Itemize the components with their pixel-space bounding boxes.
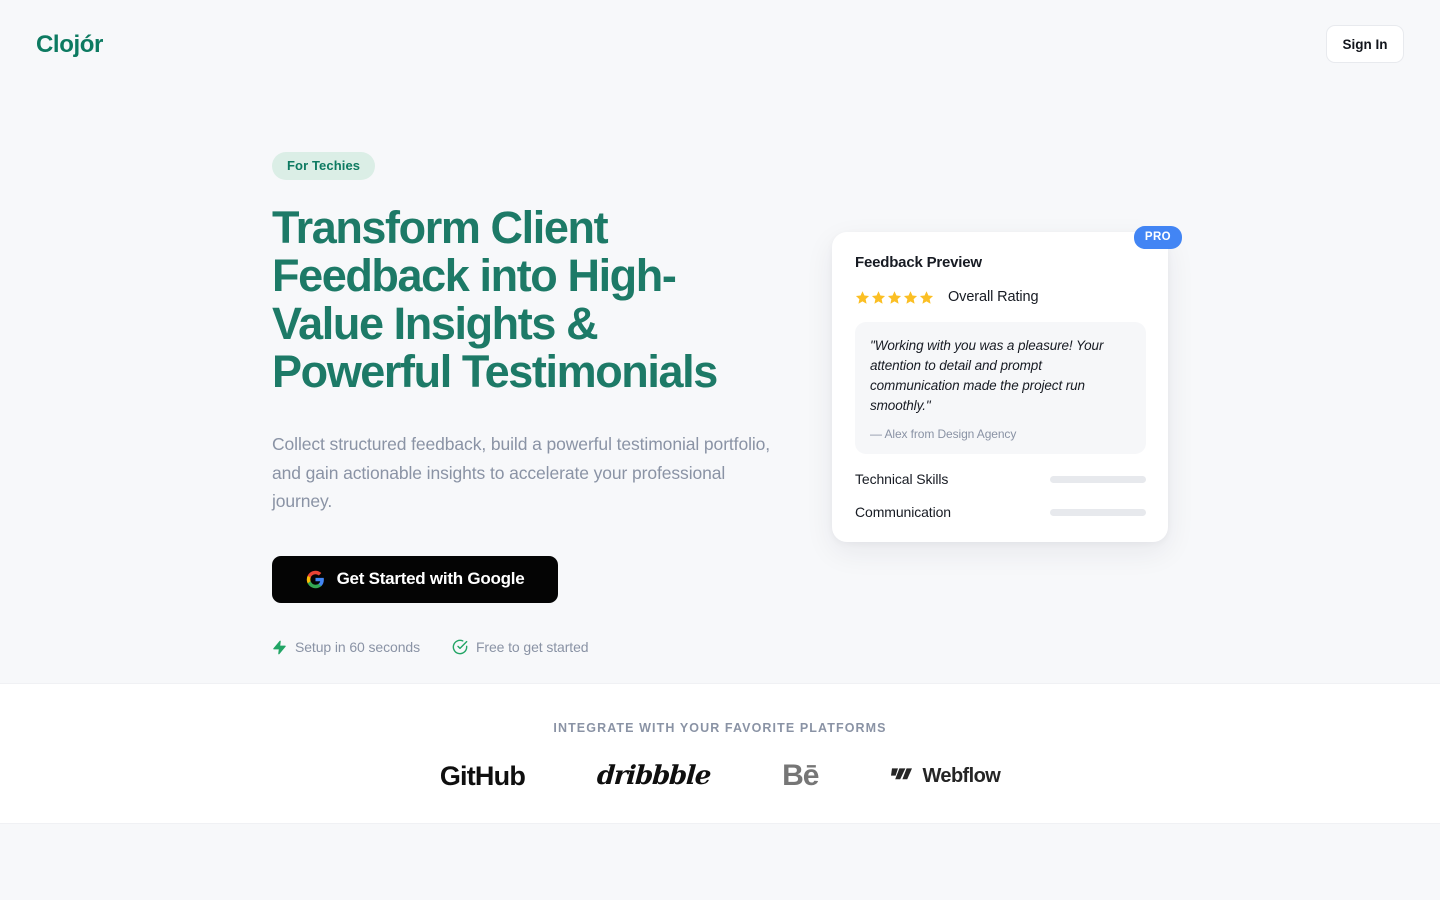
webflow-mark-icon [891, 766, 915, 787]
landing-page: Clojór Sign In For Techies Transform Cli… [0, 0, 1440, 900]
check-circle-icon [452, 639, 468, 655]
skill-progress-track [1050, 476, 1146, 483]
hero-perks: Setup in 60 seconds Free to get started [272, 639, 812, 656]
sign-in-button[interactable]: Sign In [1326, 25, 1404, 63]
hero-content: For Techies Transform Client Feedback in… [272, 152, 812, 656]
feedback-preview-card: PRO Feedback Preview Overall Rating "Wor… [832, 232, 1168, 542]
lightning-icon [272, 639, 287, 656]
navbar: Clojór Sign In [0, 0, 1440, 88]
behance-logo-text: Bē [782, 759, 818, 793]
star-icon [903, 290, 918, 305]
platform-logo-row: GitHub dribbble Bē Webflow [0, 759, 1440, 793]
hero-badge: For Techies [272, 152, 375, 180]
card-title: Feedback Preview [855, 254, 1146, 271]
quote-author: — Alex from Design Agency [870, 427, 1131, 441]
page-bottom-spacer [0, 824, 1440, 900]
perk-free-to-start: Free to get started [452, 639, 589, 655]
feedback-preview-card-wrapper: PRO Feedback Preview Overall Rating "Wor… [832, 232, 1168, 542]
hero-subtitle: Collect structured feedback, build a pow… [272, 430, 772, 516]
skill-row-communication: Communication [855, 504, 1146, 520]
skill-label: Communication [855, 504, 951, 520]
webflow-logo-text: Webflow [923, 765, 1001, 788]
dribbble-logo-text: dribbble [596, 761, 711, 791]
star-icon [919, 290, 934, 305]
perk-setup-time: Setup in 60 seconds [272, 639, 420, 656]
page-title: Transform Client Feedback into High-Valu… [272, 204, 732, 396]
platforms-section: INTEGRATE WITH YOUR FAVORITE PLATFORMS G… [0, 683, 1440, 824]
testimonial-quote-box: "Working with you was a pleasure! Your a… [855, 322, 1146, 454]
pro-badge: PRO [1134, 226, 1182, 249]
hero-section: Clojór Sign In For Techies Transform Cli… [0, 0, 1440, 683]
star-icon [871, 290, 886, 305]
rating-label: Overall Rating [948, 289, 1038, 305]
overall-rating-row: Overall Rating [855, 289, 1146, 305]
skill-row-technical: Technical Skills [855, 471, 1146, 487]
platform-logo-webflow[interactable]: Webflow [891, 759, 1001, 793]
quote-text: "Working with you was a pleasure! Your a… [870, 336, 1131, 416]
get-started-with-google-button[interactable]: Get Started with Google [272, 556, 558, 603]
platform-logo-github[interactable]: GitHub [440, 759, 525, 793]
perk-label: Setup in 60 seconds [295, 639, 420, 655]
perk-label: Free to get started [476, 639, 589, 655]
skill-progress-track [1050, 509, 1146, 516]
google-icon [306, 570, 325, 589]
star-icon [887, 290, 902, 305]
platform-logo-behance[interactable]: Bē [782, 759, 818, 793]
skill-label: Technical Skills [855, 471, 948, 487]
brand-logo[interactable]: Clojór [36, 31, 103, 59]
star-rating [855, 290, 934, 305]
star-icon [855, 290, 870, 305]
cta-label: Get Started with Google [337, 569, 525, 589]
platforms-title: INTEGRATE WITH YOUR FAVORITE PLATFORMS [0, 721, 1440, 735]
platform-logo-dribbble[interactable]: dribbble [597, 759, 710, 793]
github-logo-text: GitHub [440, 761, 525, 792]
